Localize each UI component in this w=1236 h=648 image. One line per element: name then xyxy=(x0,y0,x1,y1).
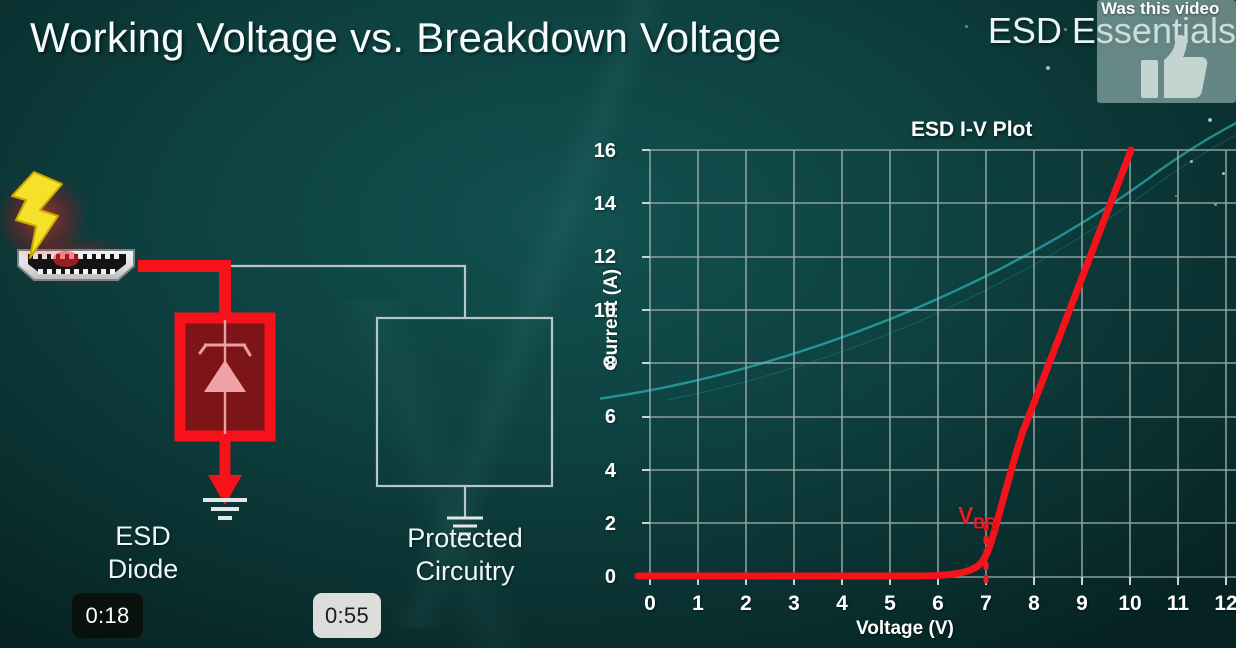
esd-diode-label: ESD Diode xyxy=(88,520,198,586)
protected-label-line2: Circuitry xyxy=(380,555,550,588)
video-frame: Working Voltage vs. Breakdown Voltage ES… xyxy=(0,0,1236,648)
esd-diode-label-line2: Diode xyxy=(88,553,198,586)
diode-ground-arrow xyxy=(208,436,242,505)
plot-area xyxy=(576,110,1236,610)
signal-trace xyxy=(140,266,465,318)
thumbs-up-icon[interactable] xyxy=(1141,34,1209,100)
protected-label-line1: Protected xyxy=(380,522,550,555)
survey-prompt: Was this video xyxy=(1101,0,1236,19)
esd-iv-chart: ESD I-V Plot Current (A) Voltage (V) 16 … xyxy=(576,110,1236,648)
circuit-diagram: ESD Diode Protected Circuitry xyxy=(0,170,580,550)
protected-circuitry-label: Protected Circuitry xyxy=(380,522,550,588)
vbr-subscript: BR xyxy=(973,516,996,533)
circuit-svg xyxy=(0,170,580,550)
protected-circuitry-box xyxy=(377,318,552,518)
chart-x-axis-label: Voltage (V) xyxy=(856,618,954,640)
grid-horizontal xyxy=(650,150,1236,577)
page-title: Working Voltage vs. Breakdown Voltage xyxy=(30,14,781,62)
sparkle-dot xyxy=(1046,66,1050,70)
total-time-badge[interactable]: 0:55 xyxy=(313,593,381,638)
survey-overlay-panel[interactable]: Was this video xyxy=(1097,0,1236,103)
sparkle-dot xyxy=(965,25,968,28)
current-time-badge[interactable]: 0:18 xyxy=(72,593,143,638)
vbr-symbol: V xyxy=(958,502,973,528)
esd-diode-label-line1: ESD xyxy=(88,520,198,553)
breakdown-voltage-label: VBR xyxy=(958,502,996,534)
axis-ticks xyxy=(642,150,1226,585)
lightning-bolt-icon xyxy=(0,172,88,264)
esd-diode-box xyxy=(180,318,270,436)
